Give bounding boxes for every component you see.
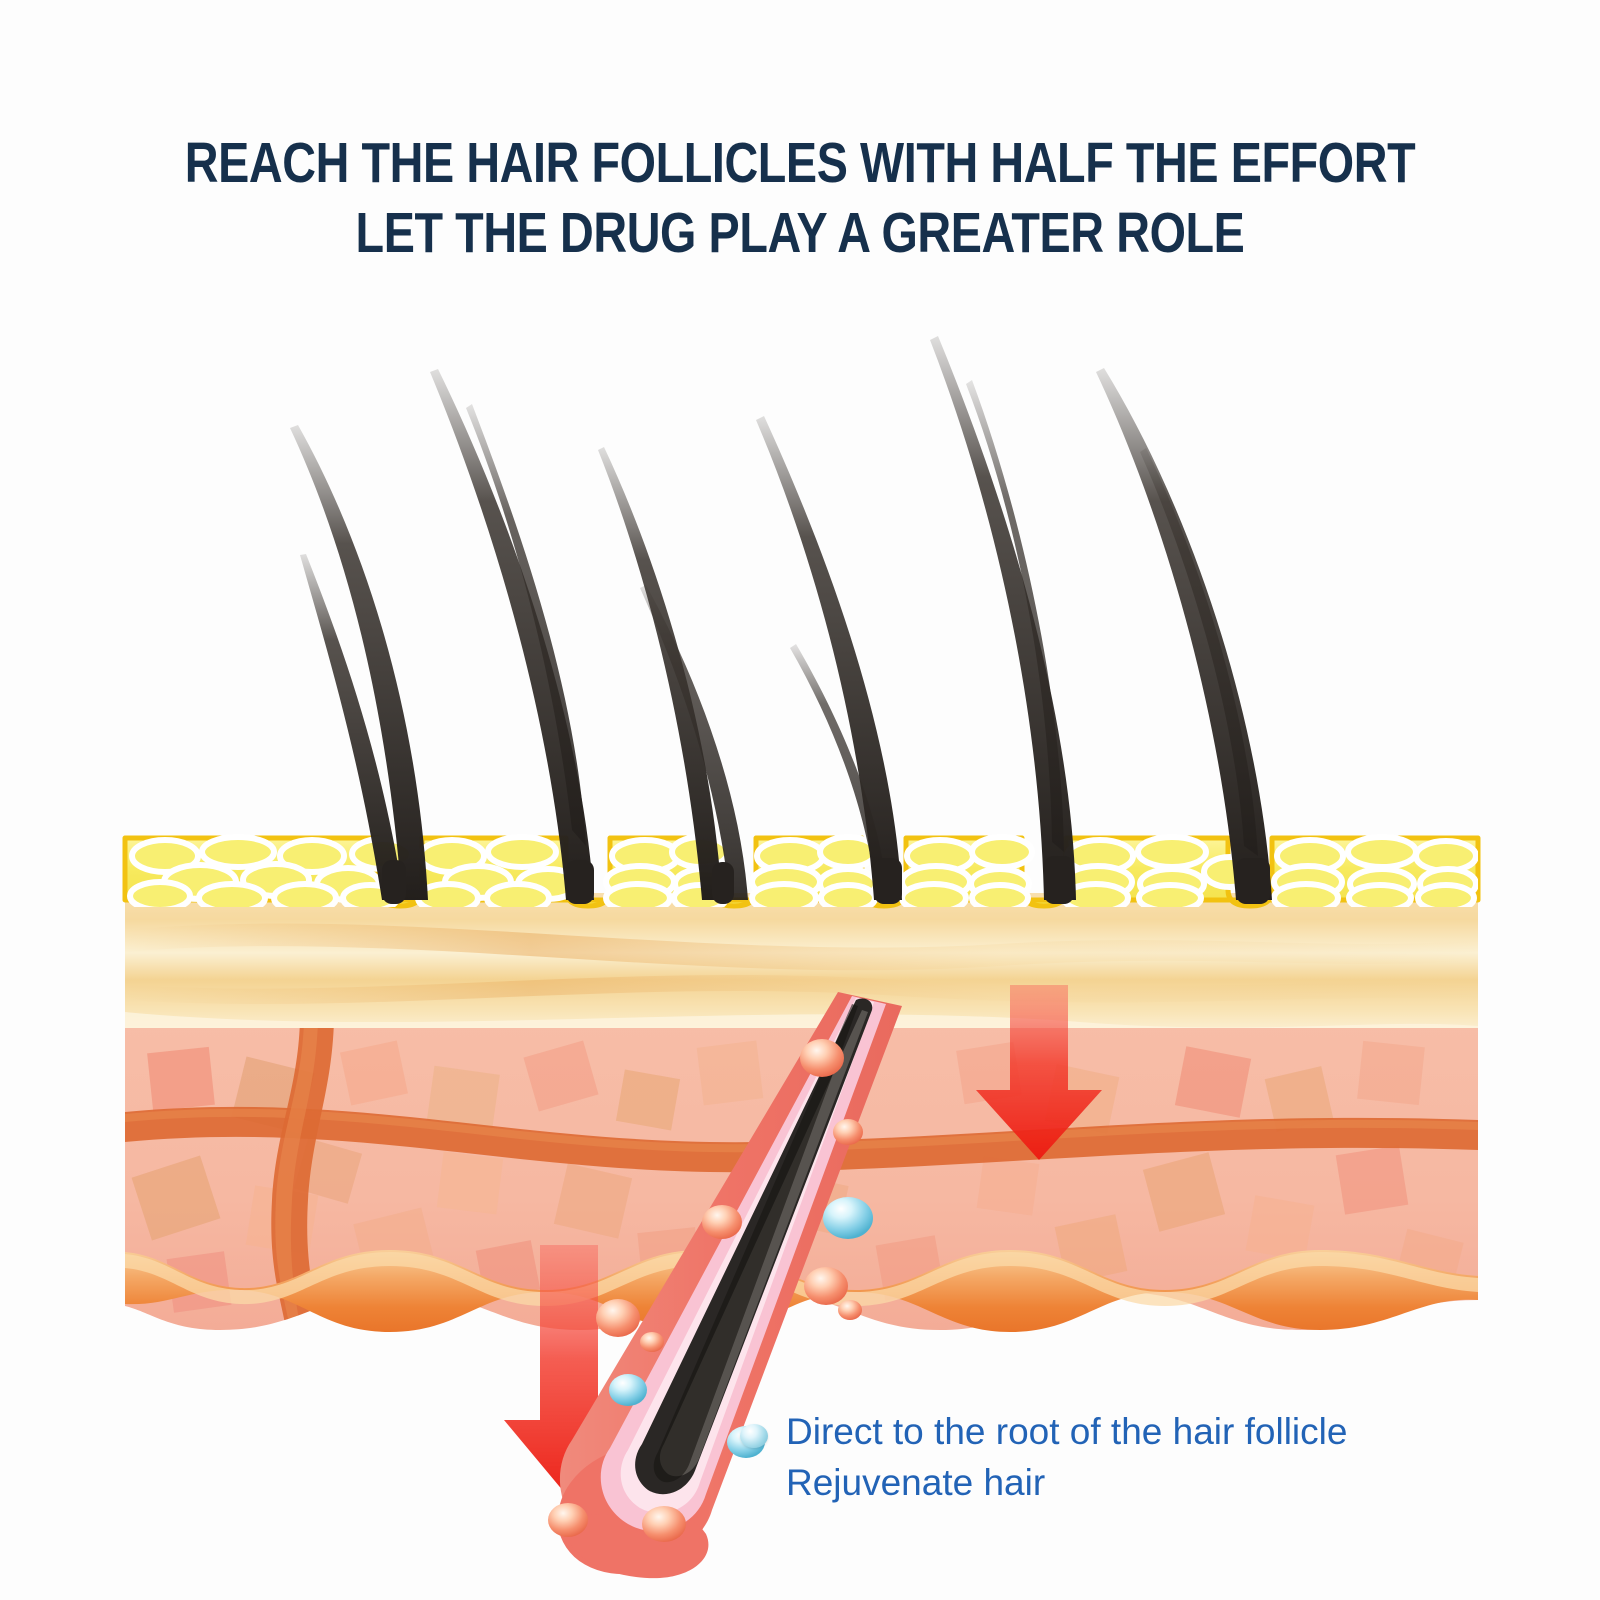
- hair-shaft: [430, 369, 594, 900]
- drug-particle: [804, 1267, 848, 1305]
- hair-shafts: [290, 336, 1272, 900]
- skin-cross-section-diagram: [0, 0, 1600, 1600]
- epidermis-layer: [125, 837, 1478, 912]
- drug-particle: [642, 1506, 686, 1542]
- caption: Direct to the root of the hair follicle …: [786, 1406, 1486, 1508]
- drug-particle: [800, 1039, 844, 1077]
- nutrient-particle: [823, 1197, 873, 1239]
- drug-particle: [596, 1299, 640, 1337]
- caption-line-2: Rejuvenate hair: [786, 1457, 1486, 1508]
- nutrient-particle: [609, 1374, 647, 1406]
- drug-particle: [640, 1332, 664, 1352]
- poster-canvas: REACH THE HAIR FOLLICLES WITH HALF THE E…: [0, 0, 1600, 1600]
- hair-shaft: [598, 447, 722, 900]
- dermis-layer: [125, 893, 1478, 1044]
- drug-particle: [833, 1119, 863, 1145]
- hair-shaft: [756, 416, 902, 900]
- droplet-bullet-icon: [740, 1424, 768, 1448]
- caption-line-1: Direct to the root of the hair follicle: [786, 1406, 1486, 1457]
- hair-shaft: [290, 425, 428, 900]
- drug-particle: [702, 1205, 742, 1239]
- drug-particle: [548, 1503, 588, 1537]
- drug-particle: [838, 1300, 862, 1320]
